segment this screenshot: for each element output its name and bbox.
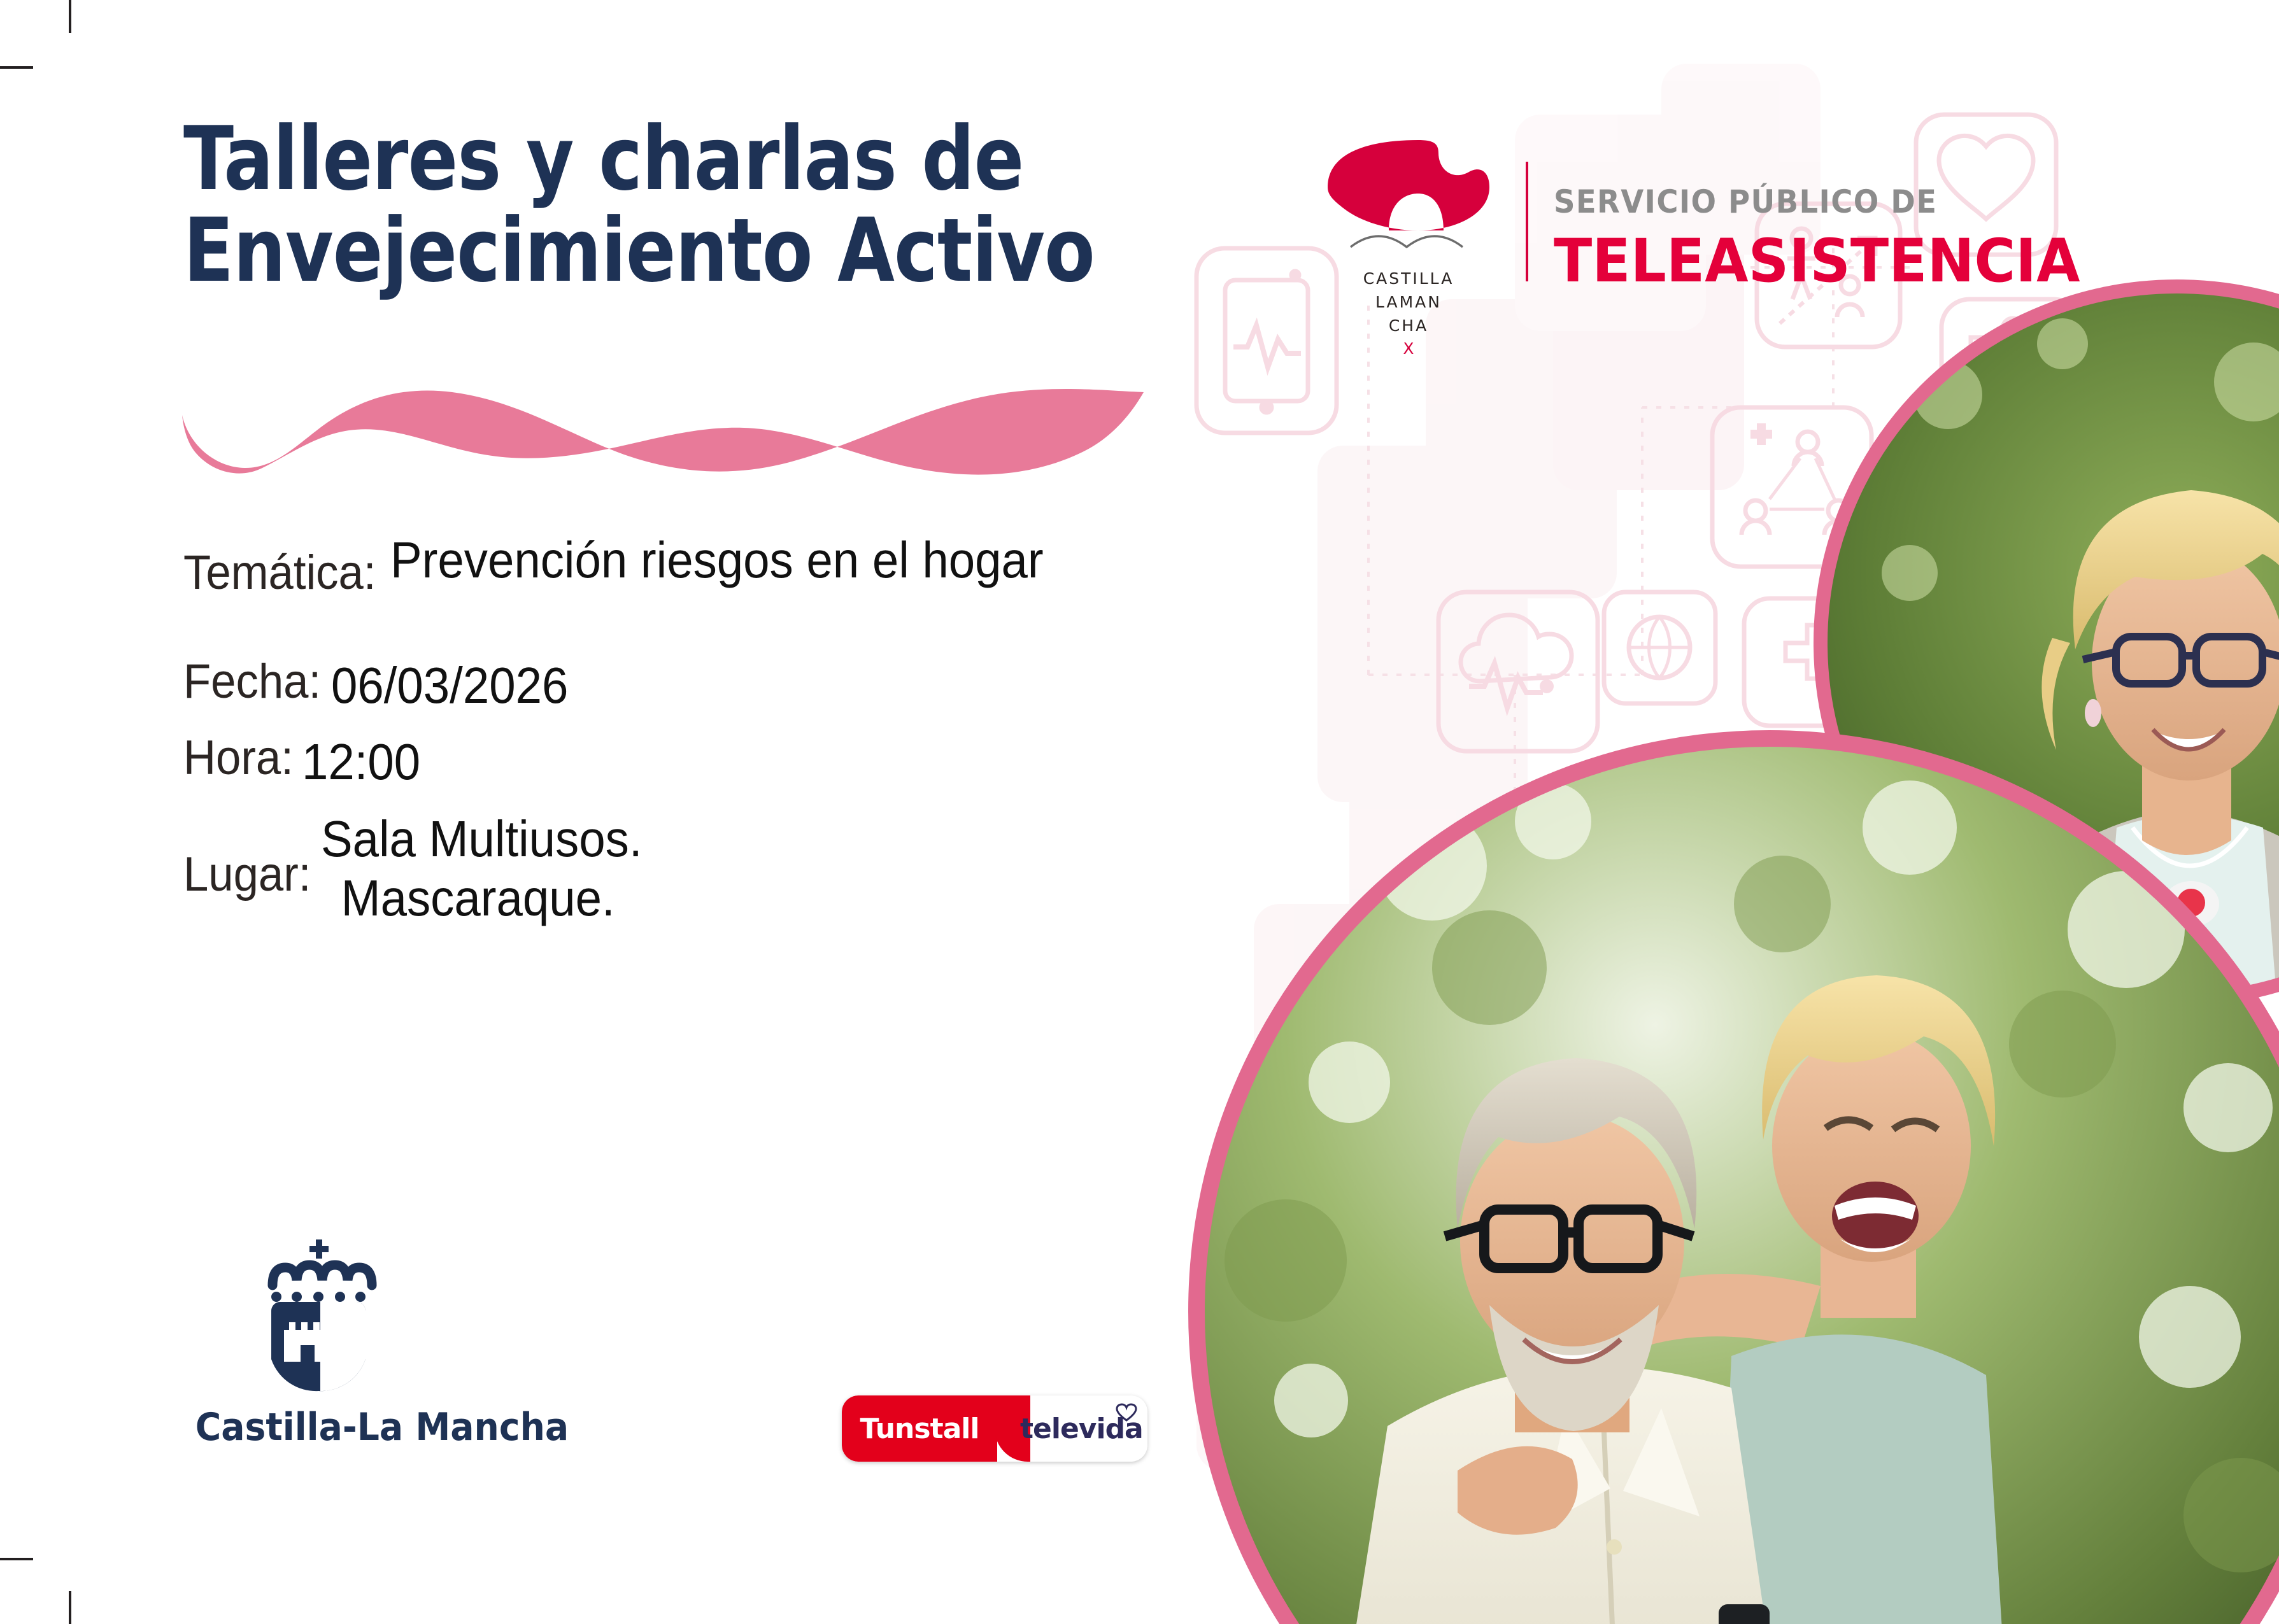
logo-divider — [1526, 162, 1528, 281]
poster-canvas: CASTILLA LAMAN CHA X SERVICIO PÚBLICO DE… — [0, 0, 2279, 1624]
crop-mark-bottom-left-vertical — [69, 1591, 71, 1624]
clm-red-blob-icon — [1323, 135, 1494, 262]
teleasistencia-wordmark: SERVICIO PÚBLICO DE TELEASISTENCIA — [1554, 135, 2113, 296]
page-title: Talleres y charlas de Envejecimiento Act… — [183, 113, 1266, 296]
title-line-1: Talleres y charlas de — [183, 113, 1093, 205]
people-network-icon — [1712, 407, 1871, 567]
tunstall-label: Tunstall — [860, 1413, 979, 1445]
hora-label: Hora: — [183, 733, 294, 784]
hora-value: 12:00 — [302, 733, 420, 792]
clm-brand-x-mark: X — [1313, 339, 1504, 358]
teleasistencia-label: TELEASISTENCIA — [1554, 227, 2080, 296]
people-network-icon-2 — [1305, 1082, 1464, 1241]
clm-brand-line-3: CHA — [1313, 314, 1504, 337]
brush-stroke-divider — [178, 388, 1210, 484]
clm-brand-text: CASTILLA LAMAN CHA — [1313, 267, 1504, 337]
televida-panel: televida — [997, 1395, 1147, 1462]
clm-brand-line-2: LAMAN — [1313, 290, 1504, 314]
fecha-label: Fecha: — [183, 656, 321, 708]
tematica-label: Temática: — [183, 522, 376, 599]
tunstall-red-panel: Tunstall — [842, 1395, 997, 1462]
castilla-la-mancha-logo: Castilla-La Mancha — [185, 1238, 452, 1450]
lugar-value-line-1: Sala Multiusos. — [321, 810, 642, 869]
clm-brand-line-1: CASTILLA — [1313, 267, 1504, 290]
fecha-value: 06/03/2026 — [331, 656, 568, 716]
teleasistencia-logo: CASTILLA LAMAN CHA X SERVICIO PÚBLICO DE… — [1313, 135, 2113, 358]
crop-mark-top-left-vertical — [69, 0, 71, 33]
tunstall-televida-logo: Tunstall televida — [842, 1395, 1147, 1462]
heart-icon — [1116, 1403, 1137, 1422]
camera-icon — [1598, 764, 1719, 885]
detail-row-fecha: Fecha: 06/03/2026 — [183, 656, 1215, 716]
servicio-publico-label: SERVICIO PÚBLICO DE — [1554, 183, 2075, 220]
event-details: Temática: Prevención riesgos en el hogar… — [183, 522, 1215, 946]
lugar-value-line-2: Mascaraque. — [321, 869, 642, 928]
cloud-pulse-icon — [1438, 592, 1598, 751]
tematica-value: Prevención riesgos en el hogar — [390, 531, 1044, 590]
clm-crown-shield-icon — [255, 1238, 382, 1394]
photo-circle-bottom-right — [1196, 738, 2279, 1624]
wifi-icon — [1458, 917, 1610, 1070]
lugar-value: Sala Multiusos. Mascaraque. — [321, 810, 642, 928]
detail-row-lugar: Lugar: Sala Multiusos. Mascaraque. — [183, 810, 1215, 928]
user-icon — [1196, 1260, 1324, 1407]
globe-icon — [1604, 592, 1715, 703]
lugar-label: Lugar: — [183, 810, 311, 901]
crop-mark-bottom-left-horizontal — [0, 1558, 33, 1560]
clm-wordmark: Castilla-La Mancha — [195, 1405, 441, 1450]
castilla-la-mancha-brand-mark: CASTILLA LAMAN CHA X — [1313, 135, 1504, 358]
title-line-2: Envejecimiento Activo — [183, 205, 1093, 297]
medical-cross-people-icon — [1744, 598, 1871, 726]
detail-row-hora: Hora: 12:00 — [183, 733, 1215, 792]
photo-circle-top-right — [1821, 286, 2279, 1019]
crop-mark-top-left-horizontal — [0, 66, 33, 69]
detail-row-tematica: Temática: Prevención riesgos en el hogar — [183, 522, 1215, 599]
